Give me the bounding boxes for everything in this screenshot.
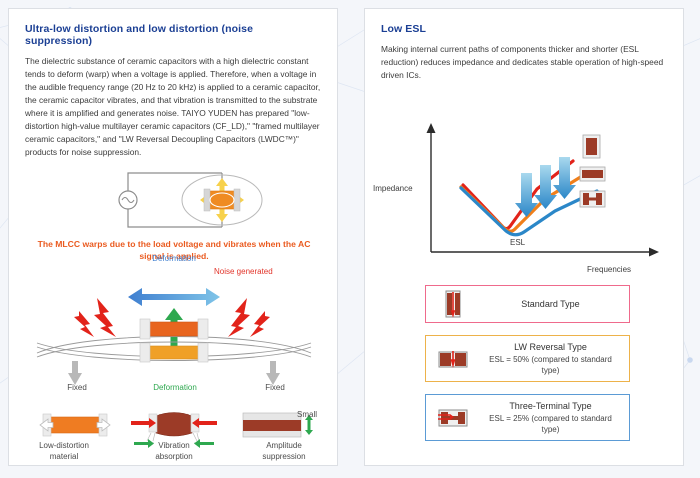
horizontal-deformation-arrow-icon [128,288,220,306]
legend-lw-text: LW Reversal Type ESL = 50% (compared to … [480,341,629,376]
lw-reversal-type-chip-icon [426,347,480,371]
card-low-esl: Low ESL Making internal current paths of… [364,8,684,466]
ac-circuit-diagram [9,137,339,237]
right-card-body: Making internal current paths of compone… [381,43,667,82]
mlcc-icon [204,189,240,211]
label-amplitude-small: Small [297,410,337,419]
three-terminal-type-icon [580,191,605,207]
legend-3t-title: Three-Terminal Type [480,400,621,413]
solution-1-line1: Vibration [158,441,189,450]
esl-reduction-arrows-icon [515,157,576,217]
label-fixed-right: Fixed [247,383,303,392]
legend-lw-reversal-type[interactable]: LW Reversal Type ESL = 50% (compared to … [425,335,630,382]
capacitor-bottom-icon [140,343,208,362]
fixed-arrow-icon [68,361,280,385]
curve-standard-type [463,161,573,229]
impedance-frequency-chart: Impedance Frequencies ESL [365,117,685,277]
label-deformation-mid: Deformation [142,383,208,392]
right-card-title: Low ESL [381,23,667,35]
solution-label-amplitude-suppression: Amplitude suppression [229,441,339,463]
deformation-diagram [9,265,339,390]
y-axis-label: Impedance [373,184,413,193]
low-distortion-material-icon [40,414,110,436]
legend-standard-type[interactable]: Standard Type [425,285,630,323]
solution-0-line2: material [50,452,78,461]
legend-standard-title: Standard Type [480,298,621,311]
label-fixed-left: Fixed [49,383,105,392]
legend-3t-text: Three-Terminal Type ESL = 25% (compared … [480,400,629,435]
standard-type-chip-icon [426,289,480,319]
solution-label-low-distortion: Low-distortion material [9,441,119,463]
esl-annotation: ESL [510,238,526,247]
x-axis-arrowhead [649,248,659,257]
left-card-title: Ultra-low distortion and low distortion … [25,23,321,47]
legend-lw-title: LW Reversal Type [480,341,621,354]
solution-1-line2: absorption [155,452,192,461]
label-deformation-top: Deformation [139,254,209,263]
card-noise-suppression: Ultra-low distortion and low distortion … [8,8,338,466]
solution-label-vibration-absorption: Vibration absorption [119,441,229,463]
legend-three-terminal-type[interactable]: Three-Terminal Type ESL = 25% (compared … [425,394,630,441]
solution-0-line1: Low-distortion [39,441,89,450]
lw-reversal-type-icon [580,167,605,181]
capacitor-top-icon [140,319,208,339]
standard-type-icon [583,135,600,158]
solution-2-line1: Amplitude [266,441,302,450]
legend-lw-sub: ESL = 50% (compared to standard type) [480,354,621,376]
label-noise-generated: Noise generated [214,267,314,276]
x-axis-label: Frequencies [587,265,631,274]
solution-2-line2: suppression [262,452,305,461]
legend-standard-text: Standard Type [480,298,629,311]
three-terminal-type-chip-icon [426,406,480,430]
y-axis-arrowhead [427,123,436,133]
legend-3t-sub: ESL = 25% (compared to standard type) [480,413,621,435]
